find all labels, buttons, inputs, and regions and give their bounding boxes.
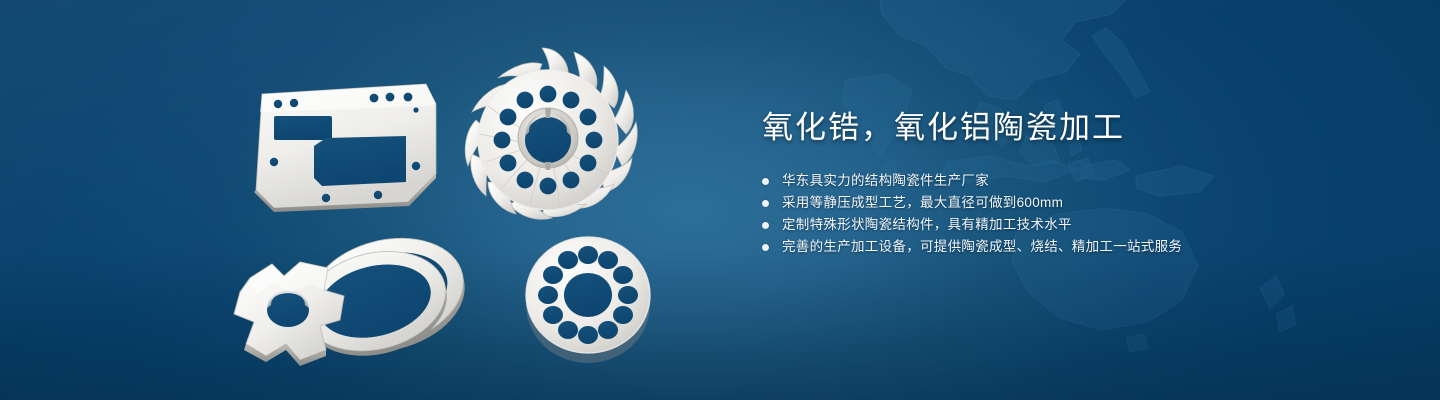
ceramic-impeller-disc — [465, 48, 637, 219]
page-title: 氧化锆，氧化铝陶瓷加工 — [762, 108, 1382, 148]
bullet-dot-icon — [762, 178, 769, 185]
list-item-label: 华东具实力的结构陶瓷件生产厂家 — [782, 170, 989, 192]
ceramic-plate-with-cutouts — [254, 84, 436, 212]
bullet-dot-icon — [762, 222, 769, 229]
list-item: 采用等静压成型工艺，最大直径可做到600mm — [762, 192, 1382, 214]
product-photo-group — [230, 40, 700, 380]
list-item-label: 完善的生产加工设备，可提供陶瓷成型、烧结、精加工一站式服务 — [782, 236, 1182, 258]
list-item: 完善的生产加工设备，可提供陶瓷成型、烧结、精加工一站式服务 — [762, 236, 1382, 258]
ceramic-perforated-ring-disc — [526, 237, 650, 363]
list-item: 华东具实力的结构陶瓷件生产厂家 — [762, 170, 1382, 192]
feature-list: 华东具实力的结构陶瓷件生产厂家 采用等静压成型工艺，最大直径可做到600mm 定… — [762, 170, 1382, 258]
list-item-label: 定制特殊形状陶瓷结构件，具有精加工技术水平 — [782, 214, 1072, 236]
bullet-dot-icon — [762, 200, 769, 207]
bullet-dot-icon — [762, 244, 769, 251]
banner-copy: 氧化锆，氧化铝陶瓷加工 华东具实力的结构陶瓷件生产厂家 采用等静压成型工艺，最大… — [762, 108, 1382, 258]
list-item: 定制特殊形状陶瓷结构件，具有精加工技术水平 — [762, 214, 1382, 236]
ceramic-cross-plate-and-rings — [234, 223, 476, 370]
hero-banner: 氧化锆，氧化铝陶瓷加工 华东具实力的结构陶瓷件生产厂家 采用等静压成型工艺，最大… — [0, 0, 1440, 400]
list-item-label: 采用等静压成型工艺，最大直径可做到600mm — [782, 192, 1063, 214]
